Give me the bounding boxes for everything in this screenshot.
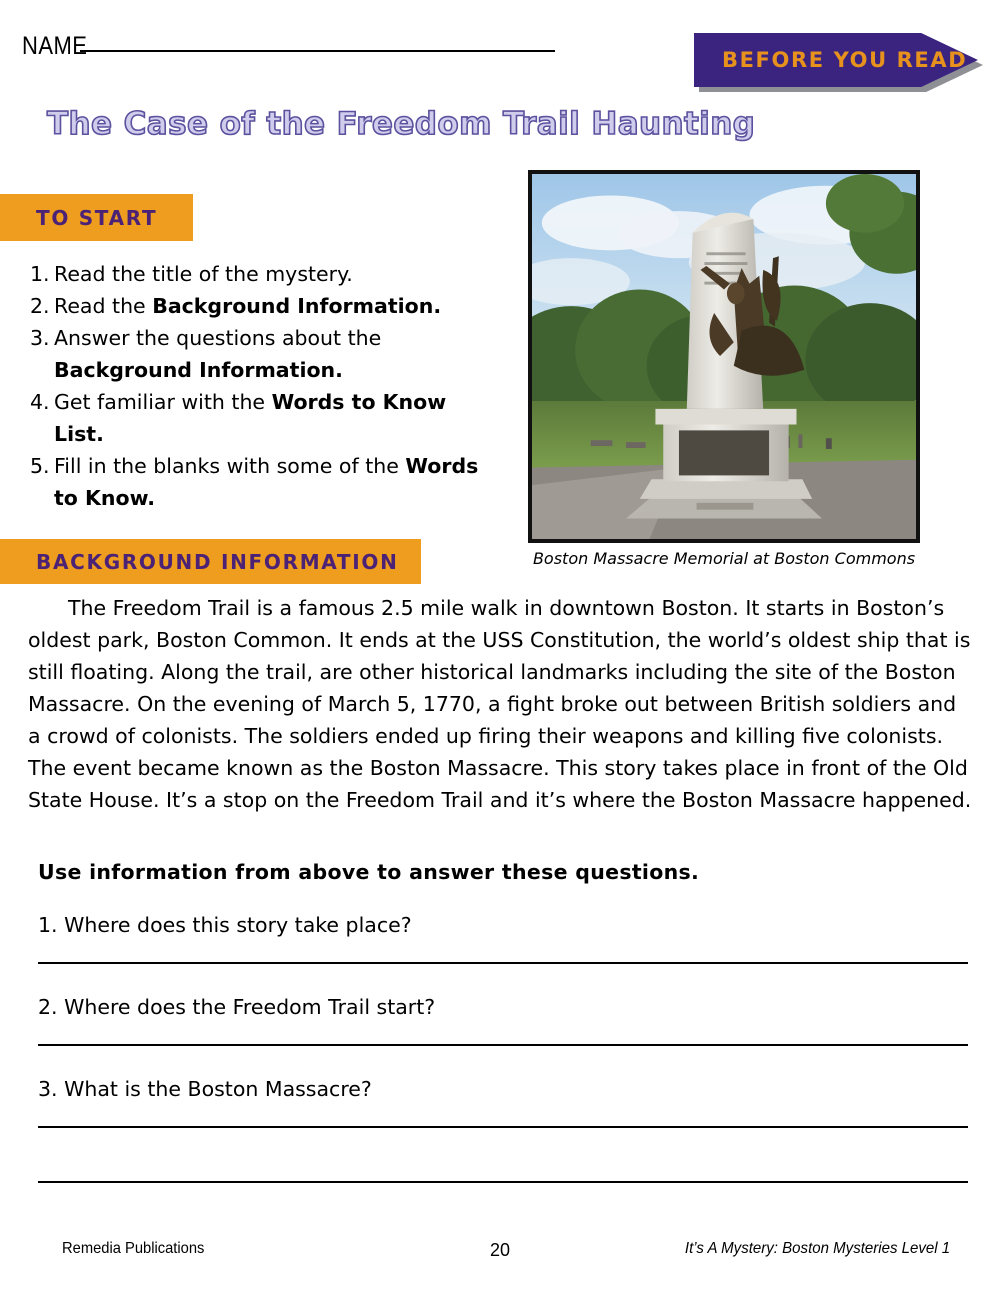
banner-arrow-shape: BEFORE YOU READ bbox=[694, 33, 978, 87]
question-1: 1. Where does this story take place? bbox=[38, 913, 412, 937]
to-start-item-number: 4. bbox=[30, 386, 54, 418]
name-write-in-line[interactable] bbox=[80, 50, 555, 52]
to-start-item-number: 2. bbox=[30, 290, 54, 322]
monument-photo bbox=[528, 170, 920, 543]
answer-line-1[interactable] bbox=[38, 962, 968, 964]
photo-caption: Boston Massacre Memorial at Boston Commo… bbox=[528, 549, 920, 568]
to-start-list: 1.Read the title of the mystery.2.Read t… bbox=[30, 258, 500, 514]
to-start-section-header: TO START bbox=[0, 194, 193, 241]
banner-label: BEFORE YOU READ bbox=[694, 48, 967, 72]
to-start-heading-label: TO START bbox=[36, 206, 157, 230]
to-start-list-item: 1.Read the title of the mystery. bbox=[30, 258, 500, 290]
to-start-list-item: 2.Read the Background Information. bbox=[30, 290, 500, 322]
to-start-item-text: Answer the questions about the Backgroun… bbox=[54, 322, 500, 386]
page-footer: Remedia Publications 20 It’s A Mystery: … bbox=[0, 1240, 1000, 1264]
to-start-item-text: Get familiar with the Words to Know List… bbox=[54, 386, 500, 450]
background-information-paragraph: The Freedom Trail is a famous 2.5 mile w… bbox=[28, 592, 972, 816]
to-start-item-number: 1. bbox=[30, 258, 54, 290]
to-start-item-number: 5. bbox=[30, 450, 54, 482]
to-start-item-text: Fill in the blanks with some of the Word… bbox=[54, 450, 500, 514]
monument-photo-graphic bbox=[532, 174, 916, 539]
questions-instruction: Use information from above to answer the… bbox=[38, 860, 699, 884]
to-start-list-item: 3.Answer the questions about the Backgro… bbox=[30, 322, 500, 386]
to-start-list-item: 5.Fill in the blanks with some of the Wo… bbox=[30, 450, 500, 514]
to-start-item-number: 3. bbox=[30, 322, 54, 354]
to-start-item-text: Read the Background Information. bbox=[54, 290, 500, 322]
background-information-heading-label: BACKGROUND INFORMATION bbox=[36, 550, 399, 574]
question-2: 2. Where does the Freedom Trail start? bbox=[38, 995, 435, 1019]
to-start-item-text: Read the title of the mystery. bbox=[54, 258, 500, 290]
footer-book-title: It’s A Mystery: Boston Mysteries Level 1 bbox=[685, 1240, 950, 1258]
to-start-list-item: 4.Get familiar with the Words to Know Li… bbox=[30, 386, 500, 450]
answer-line-3a[interactable] bbox=[38, 1126, 968, 1128]
answer-line-3b[interactable] bbox=[38, 1181, 968, 1183]
page-title: The Case of the Freedom Trail Haunting bbox=[47, 106, 755, 142]
name-field-row: NAME bbox=[22, 32, 555, 61]
answer-line-2[interactable] bbox=[38, 1044, 968, 1046]
before-you-read-banner: BEFORE YOU READ bbox=[694, 33, 978, 87]
question-3: 3. What is the Boston Massacre? bbox=[38, 1077, 372, 1101]
name-label: NAME bbox=[22, 32, 87, 61]
background-information-section-header: BACKGROUND INFORMATION bbox=[0, 539, 421, 584]
